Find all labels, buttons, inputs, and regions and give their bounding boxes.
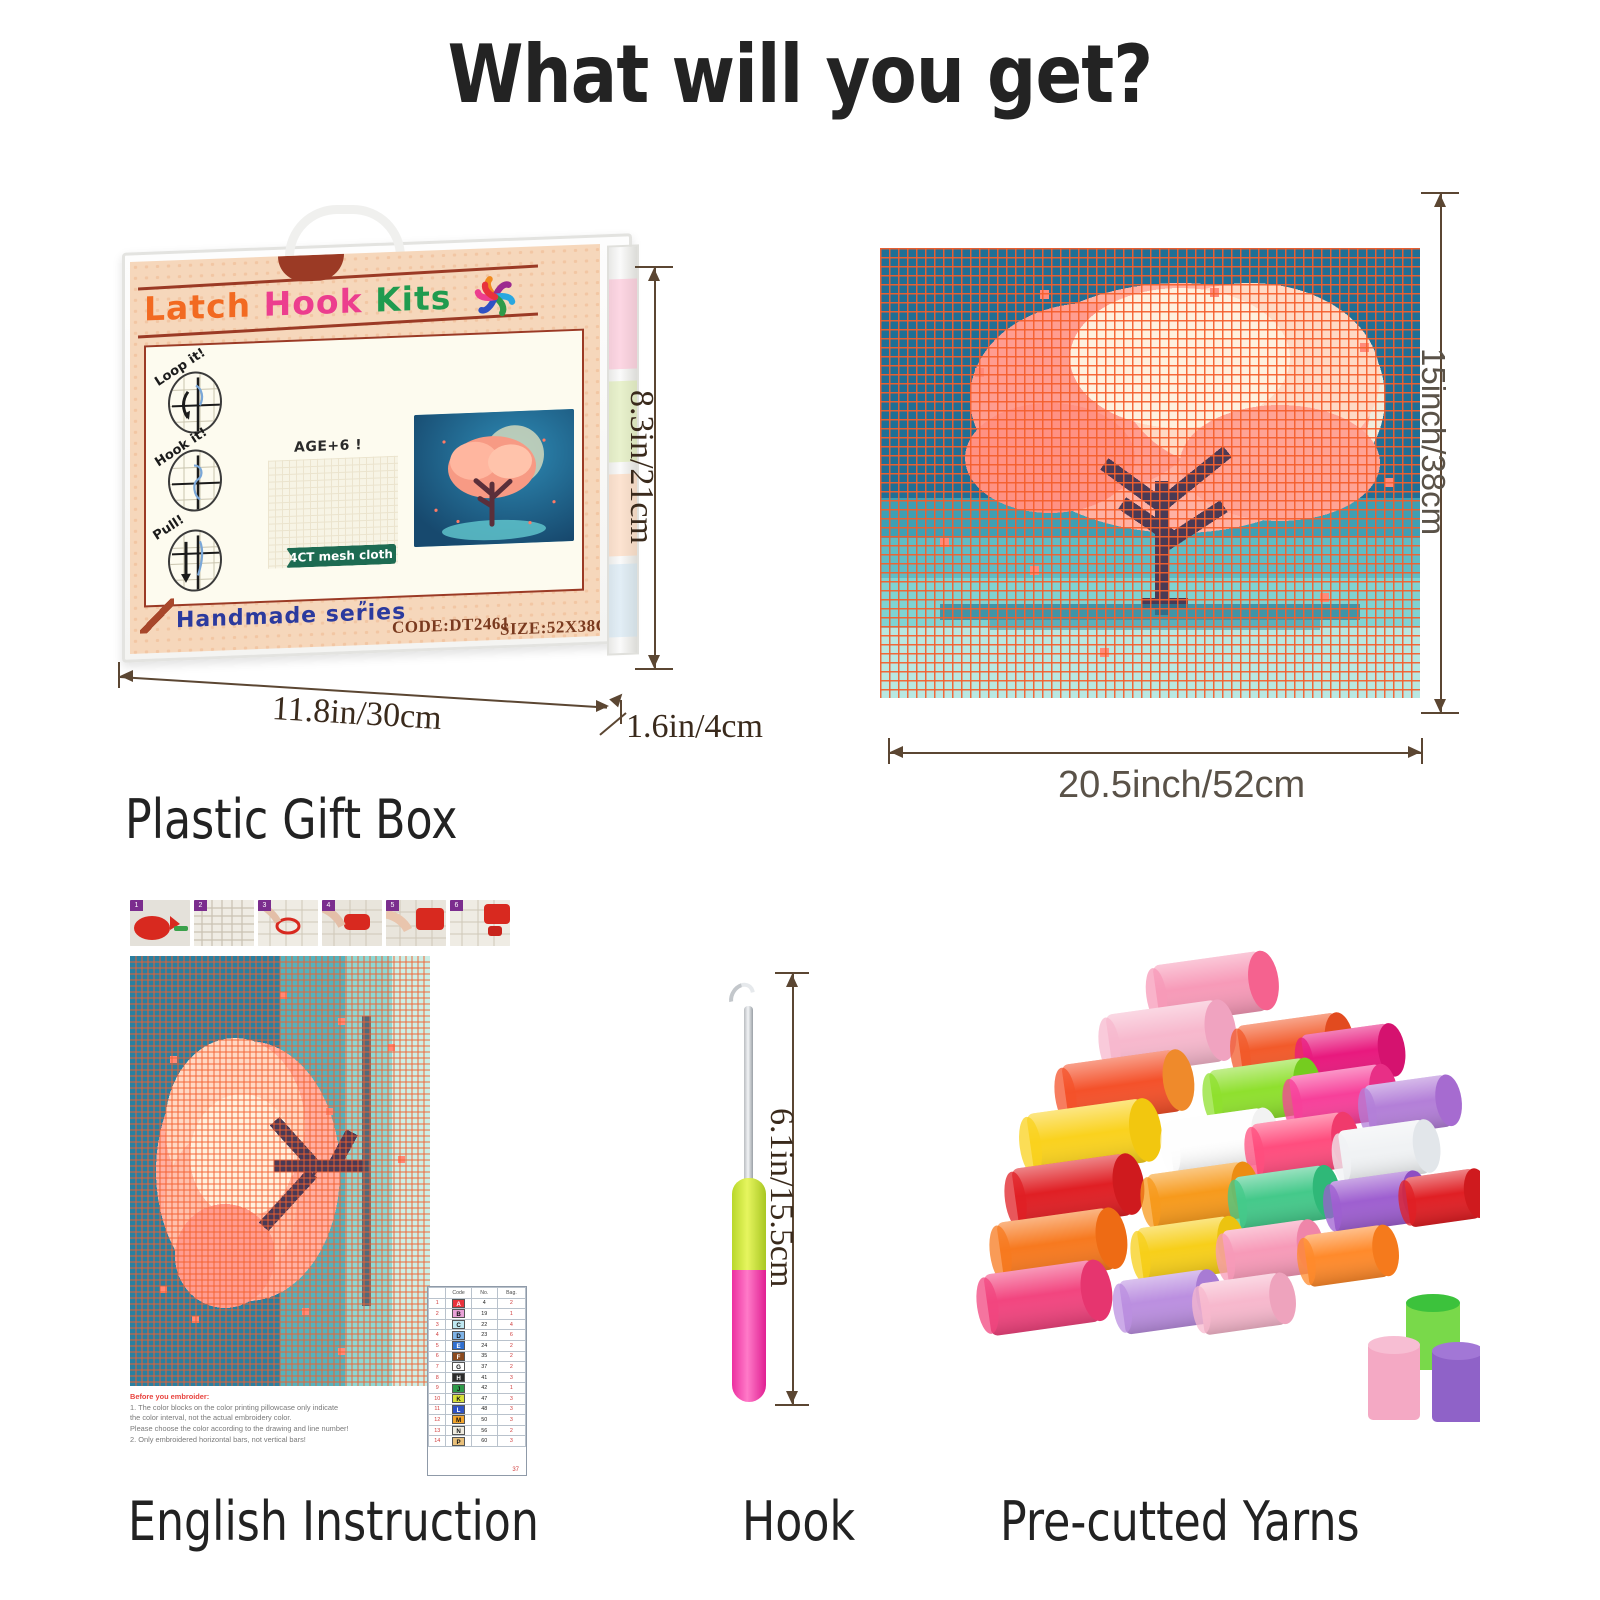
legend-index: 14 bbox=[429, 1436, 446, 1447]
legend-total-count: 37 bbox=[512, 1467, 519, 1473]
legend-bag: 2 bbox=[497, 1351, 525, 1362]
legend-code: N bbox=[446, 1425, 471, 1436]
table-row: 2B191 bbox=[429, 1309, 526, 1320]
yarn-bundle-upright bbox=[1432, 1342, 1480, 1422]
legend-bag: 1 bbox=[497, 1383, 525, 1394]
legend-code: C bbox=[446, 1319, 471, 1330]
color-legend-table: Code No. Bag. 1A422B1913C2244D2365E2426F… bbox=[427, 1286, 527, 1476]
legend-bag: 3 bbox=[497, 1415, 525, 1426]
legend-no: 60 bbox=[471, 1436, 497, 1447]
mesh-cloth-ribbon: 4CT mesh cloth bbox=[286, 544, 396, 568]
table-row: 13N562 bbox=[429, 1425, 526, 1436]
list-item: 3 bbox=[258, 900, 318, 946]
legend-code: H bbox=[446, 1372, 471, 1383]
step-icon-loop bbox=[168, 370, 222, 434]
table-row: 7G372 bbox=[429, 1362, 526, 1373]
table-row: 10K473 bbox=[429, 1393, 526, 1404]
product-preview-photo bbox=[414, 409, 574, 547]
legend-index: 11 bbox=[429, 1404, 446, 1415]
legend-code: J bbox=[446, 1383, 471, 1394]
legend-bag: 3 bbox=[497, 1393, 525, 1404]
legend-code: L bbox=[446, 1404, 471, 1415]
yarns-panel bbox=[960, 930, 1480, 1430]
legend-no: 48 bbox=[471, 1404, 497, 1415]
thumbnail-number: 2 bbox=[194, 900, 207, 911]
thumbnail-number: 4 bbox=[322, 900, 335, 911]
legend-bag: 6 bbox=[497, 1330, 525, 1341]
list-item: 6 bbox=[450, 900, 510, 946]
legend-index: 12 bbox=[429, 1415, 446, 1426]
legend-no: 4 bbox=[471, 1298, 497, 1309]
gift-box-panel: Latch Hook Kits Loop it! bbox=[110, 195, 670, 685]
table-row: 1A42 bbox=[429, 1298, 526, 1309]
legend-code: G bbox=[446, 1362, 471, 1373]
instruction-sheet-panel: 1 2 3 4 5 bbox=[125, 900, 520, 1470]
gift-box-front-face: Latch Hook Kits Loop it! bbox=[130, 244, 600, 654]
legend-bag: 3 bbox=[497, 1436, 525, 1447]
yarn-bundle-upright bbox=[1368, 1336, 1420, 1420]
legend-no: 35 bbox=[471, 1351, 497, 1362]
legend-code: D bbox=[446, 1330, 471, 1341]
table-row: 8H413 bbox=[429, 1372, 526, 1383]
legend-bag: 3 bbox=[497, 1404, 525, 1415]
page-title: What will you get? bbox=[112, 28, 1488, 121]
legend-col-code: Code bbox=[446, 1288, 471, 1299]
legend-no: 37 bbox=[471, 1362, 497, 1373]
legend-index: 6 bbox=[429, 1351, 446, 1362]
caption-english-instruction: English Instruction bbox=[128, 1490, 539, 1553]
product-code-text: CODE:DT2461 bbox=[392, 613, 510, 638]
legend-bag: 2 bbox=[497, 1298, 525, 1309]
table-row: 9J421 bbox=[429, 1383, 526, 1394]
hook-tip-icon bbox=[724, 978, 760, 1016]
table-row: 5E242 bbox=[429, 1340, 526, 1351]
note-line: 1. The color blocks on the color printin… bbox=[130, 1403, 420, 1414]
legend-no: 42 bbox=[471, 1383, 497, 1394]
step-icon-hook bbox=[168, 448, 222, 512]
legend-no: 56 bbox=[471, 1425, 497, 1436]
table-row: 12M503 bbox=[429, 1415, 526, 1426]
legend-no: 47 bbox=[471, 1393, 497, 1404]
legend-index: 9 bbox=[429, 1383, 446, 1394]
list-item: 4 bbox=[322, 900, 382, 946]
note-line: 2. Only embroidered horizontal bars, not… bbox=[130, 1435, 420, 1446]
legend-bag: 2 bbox=[497, 1362, 525, 1373]
table-row: 6F352 bbox=[429, 1351, 526, 1362]
pinwheel-logo-icon bbox=[468, 269, 522, 325]
brand-word-kits: Kits bbox=[375, 278, 451, 320]
before-you-embroider-note: Before you embroider: 1. The color block… bbox=[130, 1392, 420, 1446]
note-heading: Before you embroider: bbox=[130, 1392, 420, 1403]
legend-index: 10 bbox=[429, 1393, 446, 1404]
legend-bag: 1 bbox=[497, 1309, 525, 1320]
legend-index: 13 bbox=[429, 1425, 446, 1436]
legend-no: 22 bbox=[471, 1319, 497, 1330]
table-row: 14P603 bbox=[429, 1436, 526, 1447]
brand-word-hook: Hook bbox=[264, 281, 363, 324]
legend-no: 41 bbox=[471, 1372, 497, 1383]
thumbnail-number: 3 bbox=[258, 900, 271, 911]
legend-col-index bbox=[429, 1288, 446, 1299]
product-size-text: SIZE:52X38CM bbox=[500, 615, 600, 640]
legend-index: 3 bbox=[429, 1319, 446, 1330]
table-row: 4D236 bbox=[429, 1330, 526, 1341]
thumbnail-number: 6 bbox=[450, 900, 463, 911]
list-item: 1 bbox=[130, 900, 190, 946]
yarn-pile-image bbox=[960, 930, 1480, 1430]
series-mark: ” bbox=[358, 599, 368, 615]
list-item: 2 bbox=[194, 900, 254, 946]
brand-word-latch: Latch bbox=[144, 285, 251, 328]
list-item: 5 bbox=[386, 900, 446, 946]
legend-code: B bbox=[446, 1309, 471, 1320]
legend-no: 24 bbox=[471, 1340, 497, 1351]
thumbnail-number: 5 bbox=[386, 900, 399, 911]
legend-code: K bbox=[446, 1393, 471, 1404]
legend-bag: 2 bbox=[497, 1340, 525, 1351]
legend-code: M bbox=[446, 1415, 471, 1426]
caption-gift-box: Plastic Gift Box bbox=[125, 788, 457, 851]
legend-index: 4 bbox=[429, 1330, 446, 1341]
instruction-chart-image bbox=[130, 956, 430, 1386]
gift-box-handle bbox=[285, 205, 405, 257]
hook-handle-upper bbox=[732, 1178, 766, 1274]
legend-index: 1 bbox=[429, 1298, 446, 1309]
mesh-canvas-image bbox=[880, 248, 1420, 698]
gift-box-inner-card: Loop it! Hook it! bbox=[144, 329, 584, 608]
legend-no: 23 bbox=[471, 1330, 497, 1341]
zigzag-ornament-icon bbox=[140, 598, 174, 633]
legend-bag: 4 bbox=[497, 1319, 525, 1330]
legend-col-no: No. bbox=[471, 1288, 497, 1299]
legend-code: P bbox=[446, 1436, 471, 1447]
note-line: Please choose the color according to the… bbox=[130, 1424, 420, 1435]
legend-code: F bbox=[446, 1351, 471, 1362]
legend-no: 19 bbox=[471, 1309, 497, 1320]
legend-index: 8 bbox=[429, 1372, 446, 1383]
legend-code: A bbox=[446, 1298, 471, 1309]
table-row: 3C224 bbox=[429, 1319, 526, 1330]
age-recommendation-text: AGE+6 ! bbox=[294, 437, 362, 456]
legend-bag: 2 bbox=[497, 1425, 525, 1436]
caption-hook: Hook bbox=[742, 1490, 855, 1553]
hook-handle-lower bbox=[732, 1270, 766, 1402]
mesh-canvas-panel bbox=[880, 248, 1420, 698]
legend-index: 2 bbox=[429, 1309, 446, 1320]
table-header-row: Code No. Bag. bbox=[429, 1288, 526, 1299]
hook-shaft bbox=[744, 1006, 753, 1186]
legend-bag: 3 bbox=[497, 1372, 525, 1383]
legend-no: 50 bbox=[471, 1415, 497, 1426]
legend-code: E bbox=[446, 1340, 471, 1351]
note-line: the color interval, not the actual embro… bbox=[130, 1413, 420, 1424]
thumbnail-number: 1 bbox=[130, 900, 143, 911]
step-icon-pull bbox=[168, 528, 222, 592]
hook-panel bbox=[700, 960, 820, 1430]
table-row: 11L483 bbox=[429, 1404, 526, 1415]
instruction-thumbnail-strip: 1 2 3 4 5 bbox=[130, 900, 520, 946]
legend-col-bag: Bag. bbox=[497, 1288, 525, 1299]
legend-index: 7 bbox=[429, 1362, 446, 1373]
legend-index: 5 bbox=[429, 1340, 446, 1351]
caption-yarns: Pre-cutted Yarns bbox=[1000, 1490, 1360, 1553]
